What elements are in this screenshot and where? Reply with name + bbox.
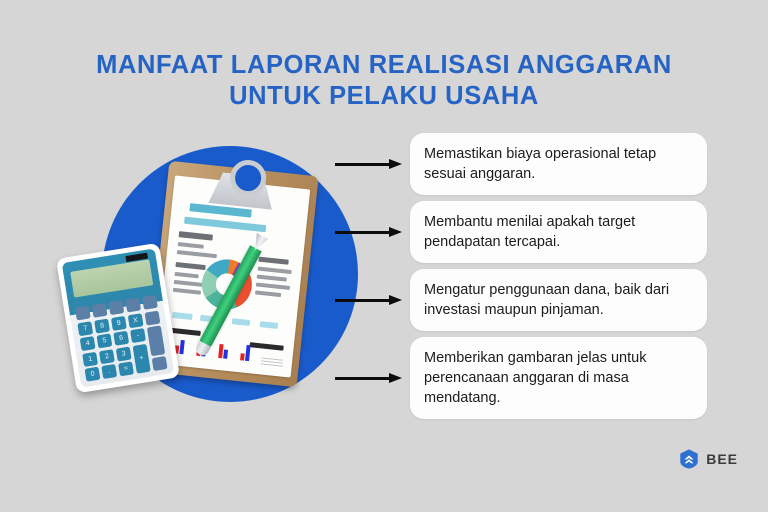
- mini-bar-chart: [170, 331, 264, 362]
- financial-report-illustration: 7 8 9 X 4 5 6 - 1 2 3 + 0 . =: [60, 140, 350, 410]
- page-title-line-2: UNTUK PELAKU USAHA: [0, 81, 768, 112]
- callout-row: Memastikan biaya operasional tetap sesua…: [335, 133, 707, 195]
- calculator-key-8: 8: [94, 318, 110, 333]
- page-title-line-1: MANFAAT LAPORAN REALISASI ANGGARAN: [0, 50, 768, 81]
- calculator-key-dot: .: [101, 364, 117, 379]
- brand-logo: BEE: [678, 448, 738, 470]
- calculator-screen: [70, 259, 153, 297]
- callout-box-4: Memberikan gambaran jelas untuk perencan…: [410, 337, 707, 419]
- page-title: MANFAAT LAPORAN REALISASI ANGGARAN UNTUK…: [0, 50, 768, 112]
- calculator-key-equals: =: [118, 361, 134, 376]
- arrow-right-icon: [335, 373, 405, 383]
- calculator-key-func: [92, 303, 108, 318]
- callout-box-1: Memastikan biaya operasional tetap sesua…: [410, 133, 707, 195]
- calculator-body: 7 8 9 X 4 5 6 - 1 2 3 + 0 . =: [62, 248, 175, 387]
- calculator-key-func: [142, 295, 158, 310]
- calculator: 7 8 9 X 4 5 6 - 1 2 3 + 0 . =: [56, 243, 180, 394]
- calculator-key-2: 2: [99, 349, 115, 364]
- callout-row: Mengatur penggunaan dana, baik dari inve…: [335, 269, 707, 331]
- calculator-key-minus: -: [130, 328, 146, 343]
- calculator-key-1: 1: [82, 351, 98, 366]
- calculator-key-7: 7: [77, 321, 93, 336]
- bee-shield-icon: [678, 448, 700, 470]
- calculator-key-5: 5: [96, 333, 112, 348]
- calculator-key-func: [125, 297, 141, 312]
- calculator-key-9: 9: [111, 315, 127, 330]
- calculator-key-6: 6: [113, 331, 129, 346]
- signature-mark: [261, 357, 284, 367]
- arrow-right-icon: [335, 295, 405, 305]
- callout-list: Memastikan biaya operasional tetap sesua…: [335, 133, 707, 425]
- arrow-right-icon: [335, 159, 405, 169]
- calculator-key-0: 0: [85, 367, 101, 382]
- calculator-key-func: [151, 356, 167, 371]
- calculator-key-func: [146, 325, 165, 355]
- calculator-keypad: 7 8 9 X 4 5 6 - 1 2 3 + 0 . =: [75, 295, 168, 382]
- calculator-key-func: [144, 310, 160, 325]
- callout-row: Memberikan gambaran jelas untuk perencan…: [335, 337, 707, 419]
- calculator-key-multiply: X: [127, 313, 143, 328]
- calculator-key-func: [108, 300, 124, 315]
- calculator-key-plus: +: [132, 343, 151, 373]
- infographic-canvas: MANFAAT LAPORAN REALISASI ANGGARAN UNTUK…: [0, 0, 768, 512]
- calculator-key-3: 3: [116, 346, 132, 361]
- calculator-key-4: 4: [80, 336, 96, 351]
- arrow-right-icon: [335, 227, 405, 237]
- callout-row: Membantu menilai apakah target pendapata…: [335, 201, 707, 263]
- calculator-key-func: [75, 305, 91, 320]
- callout-box-3: Mengatur penggunaan dana, baik dari inve…: [410, 269, 707, 331]
- callout-box-2: Membantu menilai apakah target pendapata…: [410, 201, 707, 263]
- brand-logo-text: BEE: [706, 451, 738, 467]
